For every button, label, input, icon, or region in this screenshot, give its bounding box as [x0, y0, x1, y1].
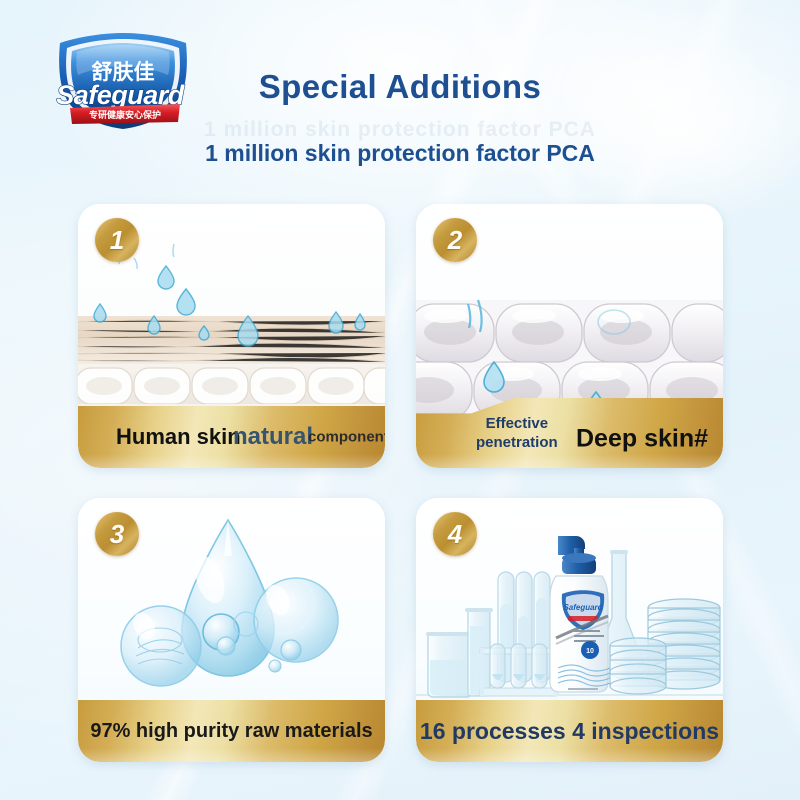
page-title: Special Additions [0, 68, 800, 106]
step-number-4: 4 [448, 521, 462, 547]
feature-card-4[interactable]: Safeguard 10 [416, 498, 723, 762]
step-number-1: 1 [110, 227, 124, 253]
caption-purity: 97% high purity raw materials [90, 720, 372, 743]
caption-line-1: Effective [476, 415, 558, 434]
caption-processes: 16 processes 4 inspections [420, 718, 719, 745]
feature-card-1[interactable]: 1 Human skin natural component [78, 204, 385, 468]
caption-part-human-skin: Human skin [116, 424, 241, 450]
product-infographic-page: 舒肤佳 Safeguard 专研健康安心保护 1 million skin pr… [0, 0, 800, 800]
step-badge-3: 3 [95, 512, 139, 556]
step-number-3: 3 [110, 521, 124, 547]
step-badge-1: 1 [95, 218, 139, 262]
step-number-2: 2 [448, 227, 462, 253]
caption-deep-skin: Deep skin# [576, 424, 708, 453]
svg-text:10: 10 [586, 648, 594, 655]
caption-part-natural: natural [233, 423, 313, 451]
card-3-caption-banner: 97% high purity raw materials [78, 700, 385, 762]
step-badge-2: 2 [433, 218, 477, 262]
svg-text:Safeguard: Safeguard [563, 603, 603, 612]
feature-card-3[interactable]: 3 97% high purity raw materials [78, 498, 385, 762]
caption-line-2: penetration [476, 434, 558, 453]
card-1-caption-banner: Human skin natural component [78, 406, 385, 468]
feature-card-grid: 1 Human skin natural component [78, 204, 723, 762]
background-glow-right [440, 0, 800, 220]
feature-card-2[interactable]: 2 Effective penetration Deep skin# [416, 204, 723, 468]
card-4-caption-banner: 16 processes 4 inspections [416, 700, 723, 762]
banner-shine-3 [78, 748, 385, 762]
ghost-subtitle: 1 million skin protection factor PCA [0, 118, 800, 142]
caption-part-component: component [308, 429, 385, 446]
page-subtitle: 1 million skin protection factor PCA [0, 140, 800, 167]
step-badge-4: 4 [433, 512, 477, 556]
caption-effective-penetration: Effective penetration [476, 415, 558, 453]
banner-shine-4 [416, 748, 723, 762]
